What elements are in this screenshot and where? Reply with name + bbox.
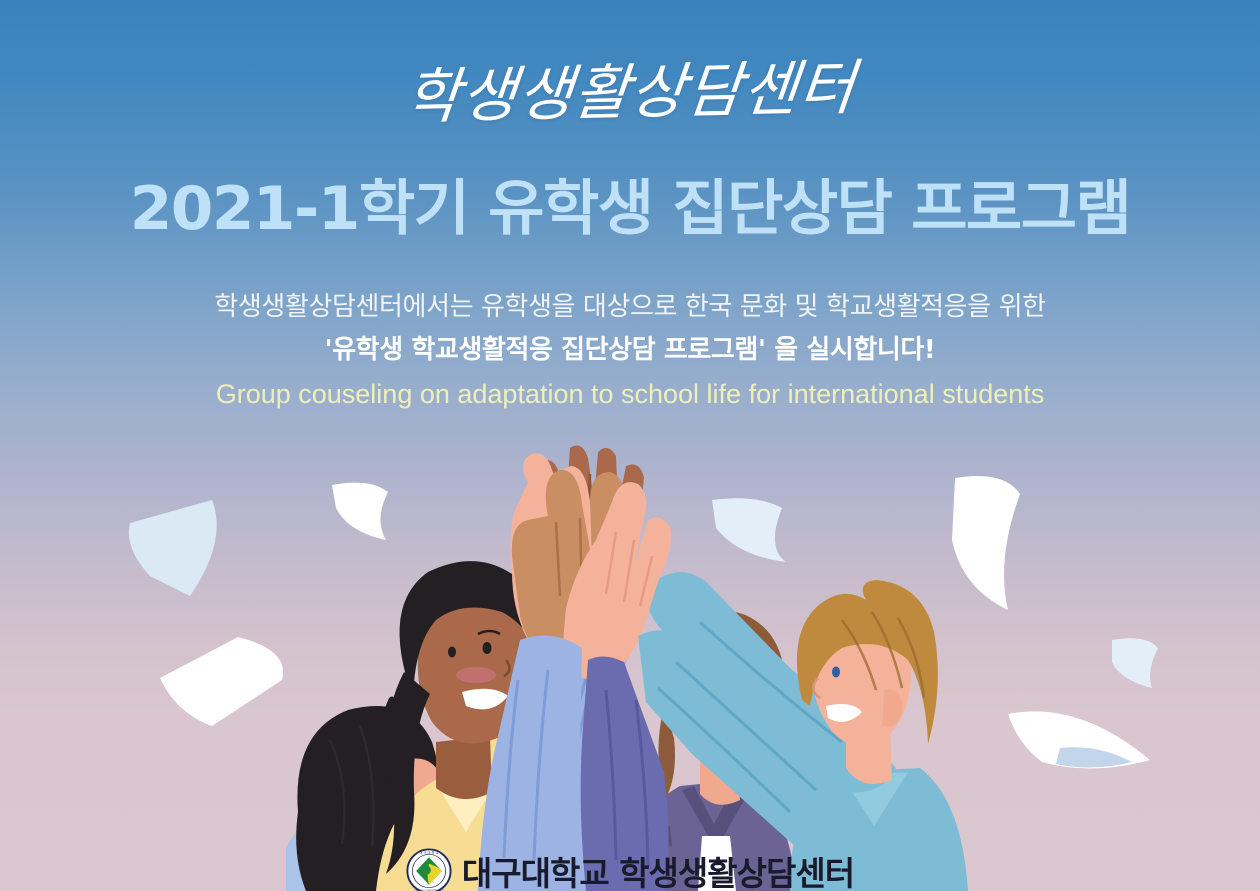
footer-organization-label: 대구대학교 학생생활상담센터 [462,847,854,891]
paper-sheet-white-left [160,637,283,726]
poster-canvas: 학생생활상담센터 2021-1학기 유학생 집단상담 프로그램 학생생활상담센터… [0,0,1260,891]
emblem-ring-text-top: 대 구 대 학 교 [419,850,438,855]
paper-sheet-blue-right [1112,638,1158,688]
description-line-1: 학생생활상담센터에서는 유학생을 대상으로 한국 문화 및 학교생활적응을 위한 [0,290,1260,325]
woman-yellow-eye [483,642,492,654]
woman-yellow-blush [456,667,496,683]
page-title: 2021-1학기 유학생 집단상담 프로그램 [0,178,1260,241]
daegu-university-emblem-icon: 대 구 대 학 교 DAEGU UNIVERSITY [406,848,452,891]
paper-sheet-blue-left [129,500,217,596]
blonde-man-eye [832,667,840,678]
emblem-center-dot [422,865,431,874]
description-line-2: '유학생 학교생활적응 집단상담 프로그램' 을 실시합니다! [0,333,1260,368]
footer-bar: 대 구 대 학 교 DAEGU UNIVERSITY 대구대학교 학생생활상담센… [0,847,1260,891]
paper-sheet-blue-midleft [712,498,786,562]
paper-sheet-white-upperleft [332,483,388,540]
woman-yellow-eye-2 [448,647,456,658]
description-line-english: Group couseling on adaptation to school … [0,376,1260,412]
woman-yellow-neck [436,736,492,799]
paper-sheet-white-right [952,476,1020,610]
